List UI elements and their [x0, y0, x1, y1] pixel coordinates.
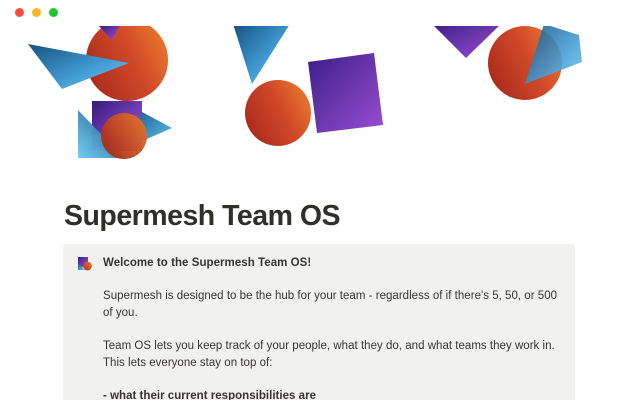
app-window: Supermesh Team OS	[0, 0, 640, 400]
page-title[interactable]: Supermesh Team OS	[64, 199, 340, 233]
cover-shape-left-circle-orange-2	[101, 113, 147, 159]
page-content: Supermesh Team OS	[0, 185, 640, 400]
callout-paragraph-2: Team OS lets you keep track of your peop…	[103, 338, 561, 372]
traffic-lights	[15, 8, 58, 17]
minimize-window-button[interactable]	[32, 8, 41, 17]
callout-body: Supermesh is designed to be the hub for …	[103, 272, 561, 400]
callout-header: Welcome to the Supermesh Team OS!	[77, 255, 561, 272]
cover-artwork-svg	[0, 0, 640, 185]
callout-paragraph-1: Supermesh is designed to be the hub for …	[103, 288, 561, 322]
cover-shape-mid-triangle-blue	[233, 24, 290, 84]
cover-image	[0, 0, 640, 185]
callout-title: Welcome to the Supermesh Team OS!	[103, 255, 311, 272]
callout-list-item: - what their current responsibilities ar…	[103, 388, 561, 400]
cover-shape-mid-circle-orange	[245, 80, 311, 146]
spacer	[103, 372, 561, 388]
cover-shape-mid-square-purple	[308, 53, 383, 133]
callout-block[interactable]: Welcome to the Supermesh Team OS! Superm…	[63, 244, 575, 400]
window-titlebar	[0, 0, 640, 26]
supermesh-logo-icon	[77, 256, 93, 272]
close-window-button[interactable]	[15, 8, 24, 17]
spacer	[103, 272, 561, 288]
maximize-window-button[interactable]	[49, 8, 58, 17]
spacer	[103, 322, 561, 338]
